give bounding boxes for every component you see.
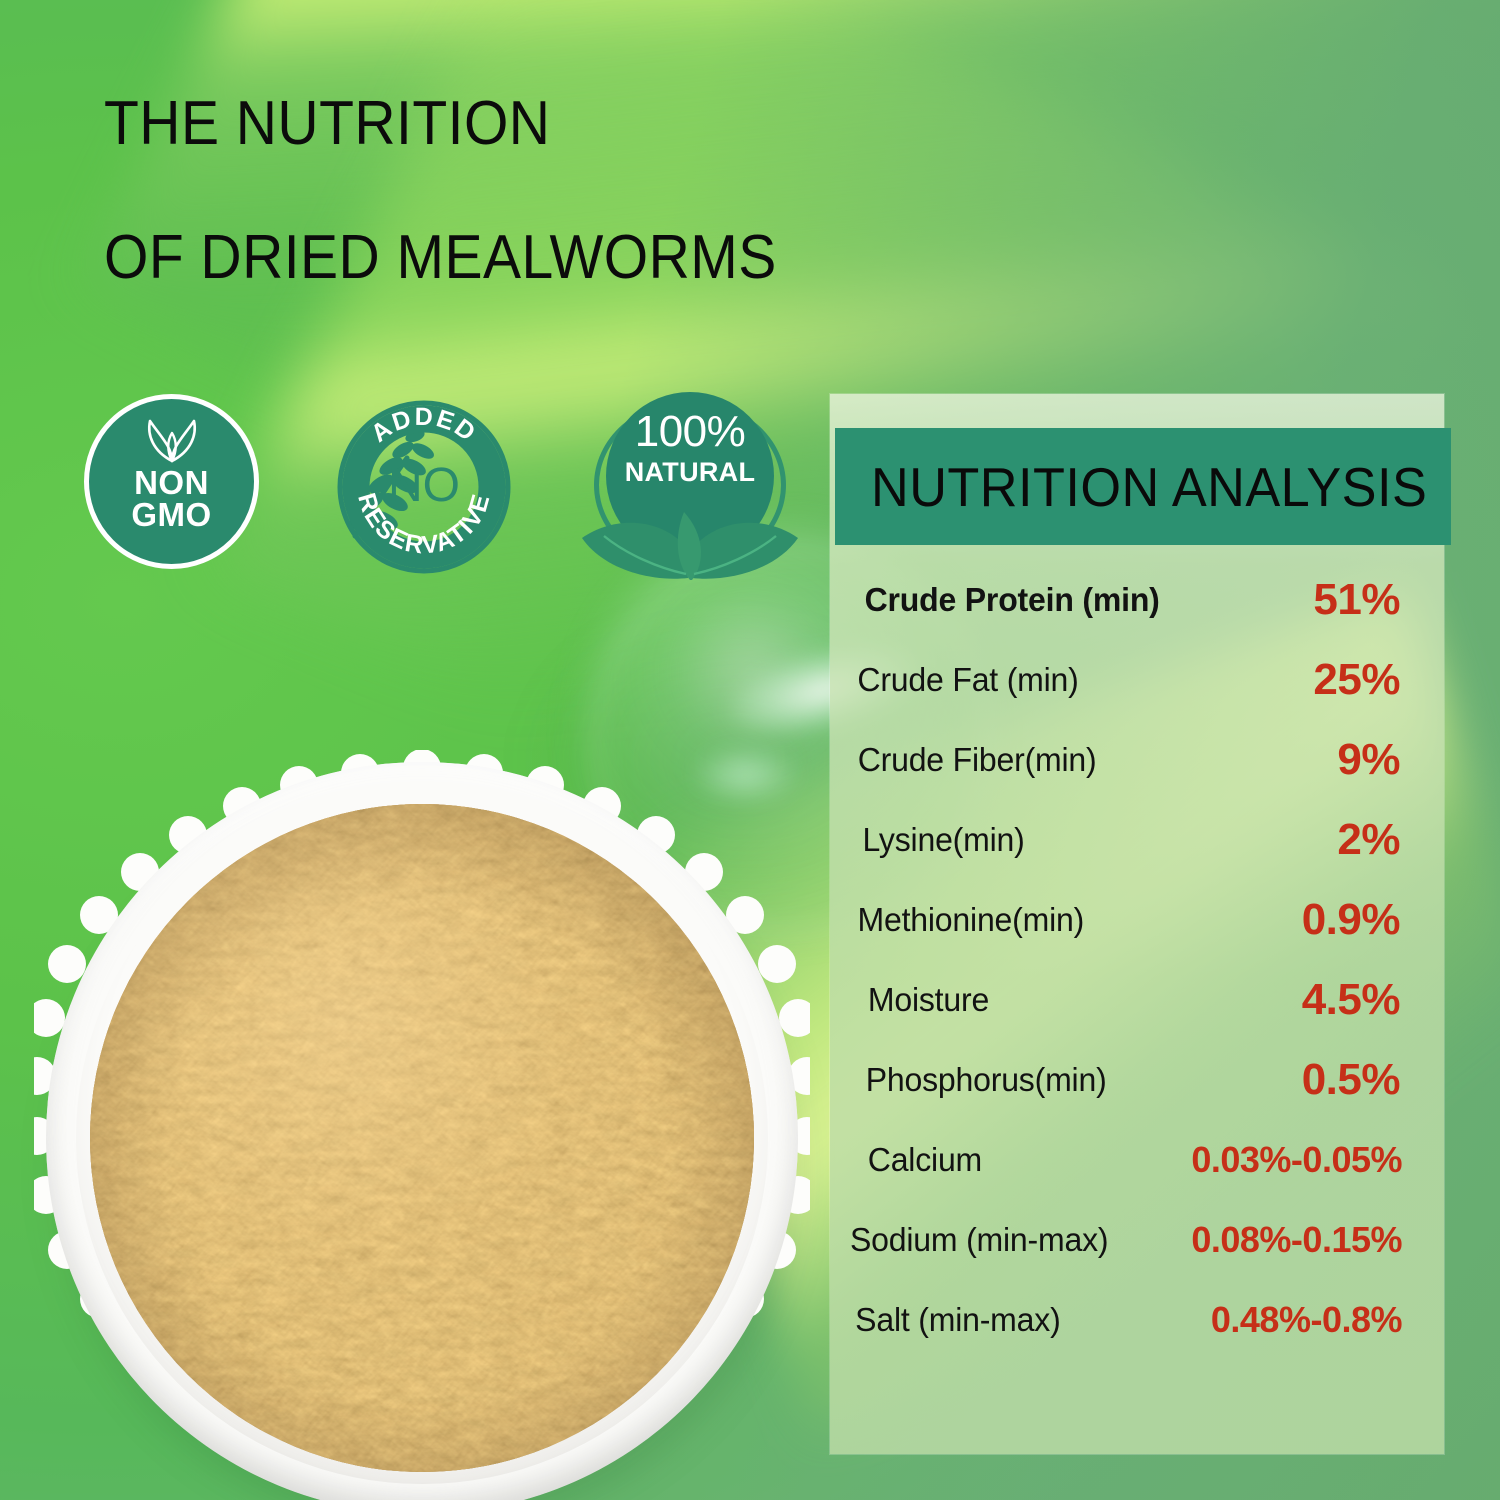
nutrition-rows: Crude Protein (min)51%Crude Fat (min)25%… <box>830 560 1444 1360</box>
badge-no-added-preservatives: ADDED PRESERVATIVES NO <box>325 388 523 586</box>
nutrition-row-label: Moisture <box>868 981 989 1019</box>
nutrition-row: Phosphorus(min)0.5% <box>830 1040 1444 1120</box>
nutrition-row: Methionine(min)0.9% <box>830 880 1444 960</box>
nutrition-row-label: Sodium (min-max) <box>850 1221 1108 1259</box>
badge-100-natural: 100% NATURAL <box>580 392 800 584</box>
nutrition-row-label: Crude Fiber(min) <box>858 741 1097 779</box>
badge-preservatives-center: NO <box>388 459 460 512</box>
nutrition-row-value: 0.03%-0.05% <box>1191 1139 1402 1181</box>
nutrition-analysis-panel: NUTRITION ANALYSIS Crude Protein (min)51… <box>830 394 1444 1454</box>
nutrition-row: Calcium0.03%-0.05% <box>830 1120 1444 1200</box>
badge-natural-label: 100% NATURAL <box>606 410 774 486</box>
nutrition-row-value: 2% <box>1337 815 1400 865</box>
badge-non-gmo: NON GMO <box>84 394 259 569</box>
nutrition-row: Crude Protein (min)51% <box>830 560 1444 640</box>
svg-text:ADDED: ADDED <box>366 403 482 448</box>
nutrition-row-label: Calcium <box>868 1141 982 1179</box>
infographic-canvas: THE NUTRITION OF DRIED MEALWORMS NON GMO <box>0 0 1500 1500</box>
nutrition-row: Moisture4.5% <box>830 960 1444 1040</box>
badge-non-gmo-line-2: GMO <box>131 499 211 531</box>
nutrition-row-label: Salt (min-max) <box>855 1301 1060 1339</box>
nutrition-row-label: Crude Fat (min) <box>857 661 1078 699</box>
two-leaves-icon <box>137 415 207 463</box>
page-title-line-2: OF DRIED MEALWORMS <box>104 226 932 290</box>
nutrition-row-value: 0.5% <box>1302 1055 1400 1105</box>
two-leaves-icon <box>580 478 800 584</box>
nutrition-row-value: 51% <box>1313 575 1400 625</box>
nutrition-row: Sodium (min-max)0.08%-0.15% <box>830 1200 1444 1280</box>
nutrition-analysis-title: NUTRITION ANALYSIS <box>871 455 1427 519</box>
nutrition-row-label: Crude Protein (min) <box>865 581 1160 619</box>
nutrition-row-label: Lysine(min) <box>863 821 1025 859</box>
nutrition-analysis-header: NUTRITION ANALYSIS <box>835 428 1451 545</box>
product-photo-mealworm-bowl <box>18 752 818 1500</box>
nutrition-row-value: 9% <box>1337 735 1400 785</box>
nutrition-row-value: 25% <box>1313 655 1400 705</box>
page-title: THE NUTRITION OF DRIED MEALWORMS <box>104 92 1004 291</box>
badge-non-gmo-line-1: NON <box>131 467 211 499</box>
nutrition-row-value: 0.48%-0.8% <box>1211 1299 1402 1341</box>
mealworm-shading <box>90 804 754 1472</box>
nutrition-row: Salt (min-max)0.48%-0.8% <box>830 1280 1444 1360</box>
badge-non-gmo-label: NON GMO <box>131 467 211 531</box>
badge-natural-percent: 100% <box>606 410 774 454</box>
badge-preservatives-top-arc: ADDED <box>366 403 482 448</box>
nutrition-row: Lysine(min)2% <box>830 800 1444 880</box>
nutrition-row: Crude Fiber(min)9% <box>830 720 1444 800</box>
page-title-line-1: THE NUTRITION <box>104 92 932 156</box>
nutrition-row-value: 0.9% <box>1302 895 1400 945</box>
nutrition-row-value: 0.08%-0.15% <box>1191 1219 1402 1261</box>
nutrition-row: Crude Fat (min)25% <box>830 640 1444 720</box>
nutrition-row-label: Phosphorus(min) <box>866 1061 1107 1099</box>
dried-mealworms-fill <box>90 804 754 1472</box>
badge-natural-word: NATURAL <box>606 459 774 486</box>
nutrition-row-label: Methionine(min) <box>858 901 1085 939</box>
certification-badges: NON GMO <box>80 388 820 588</box>
nutrition-row-value: 4.5% <box>1302 975 1400 1025</box>
